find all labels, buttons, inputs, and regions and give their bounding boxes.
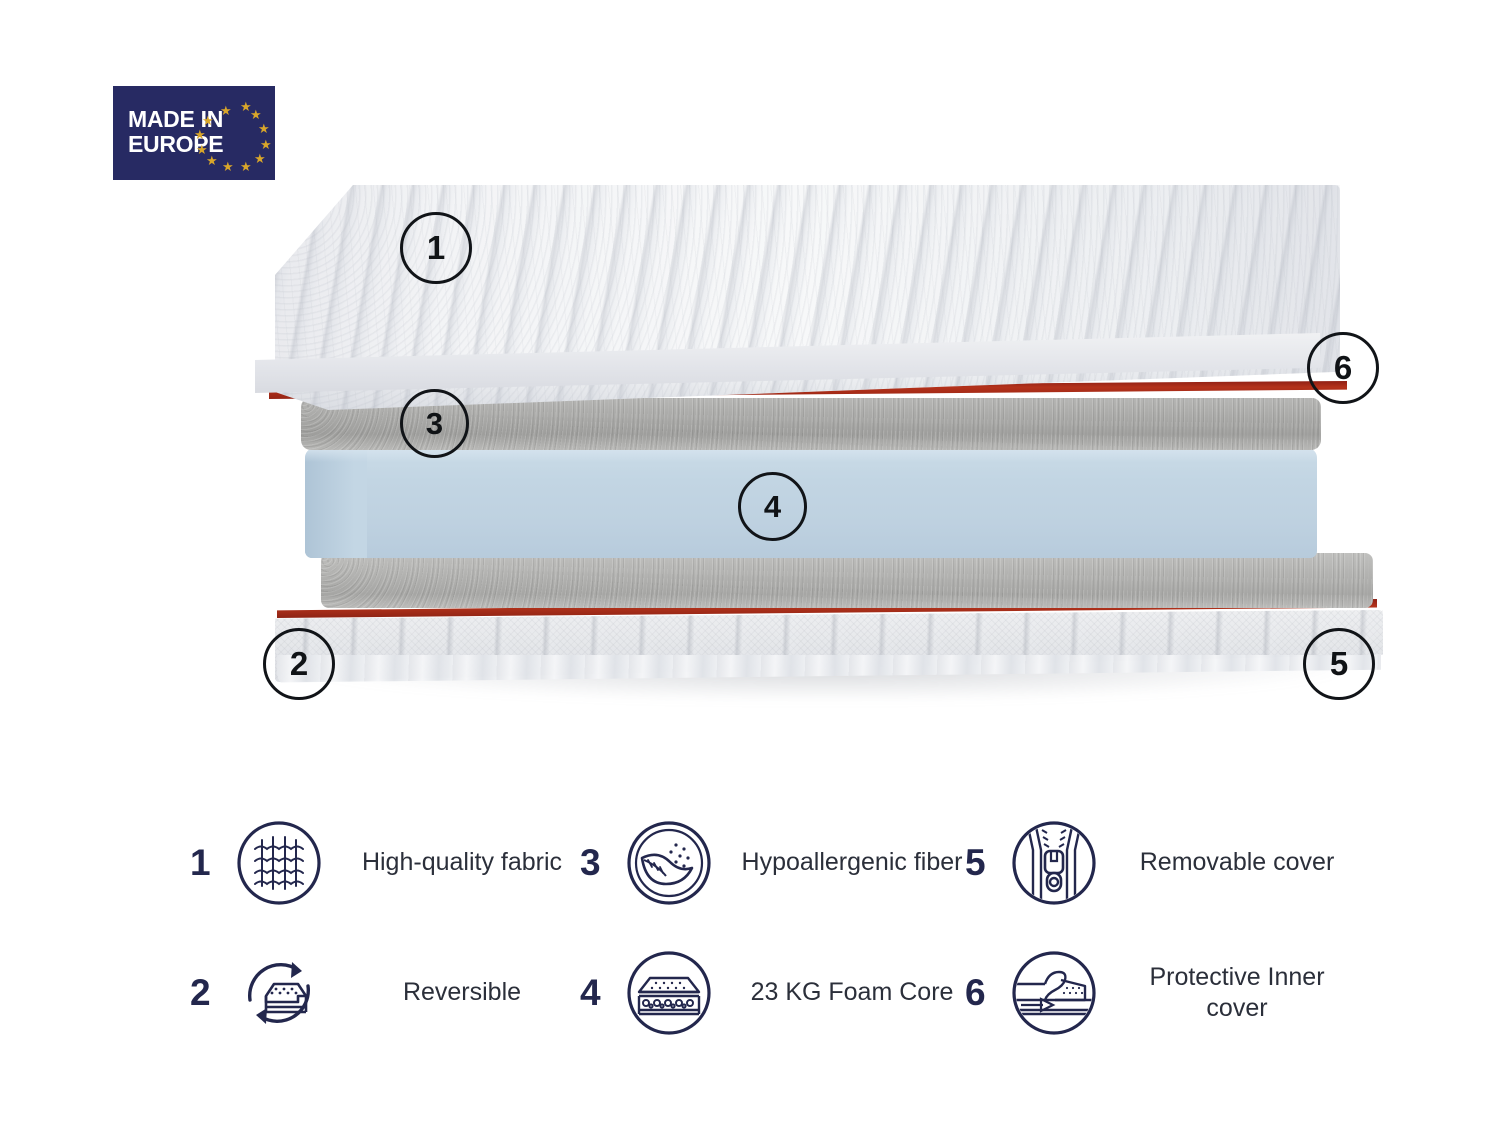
callout-marker-6[interactable]: 6 [1307, 332, 1379, 404]
foam-core-icon [626, 950, 712, 1036]
eu-star-icon: ★ [194, 129, 205, 140]
eu-star-icon: ★ [254, 153, 265, 164]
callout-marker-3[interactable]: 3 [400, 389, 469, 458]
legend-item-5[interactable]: 5 [965, 805, 1355, 920]
layer-foam-core [305, 448, 1317, 558]
woven-fabric-icon [236, 820, 322, 906]
callout-label: 1 [427, 229, 445, 267]
legend-number: 6 [965, 974, 1011, 1011]
eu-star-icon: ★ [260, 139, 271, 150]
eu-star-icon: ★ [240, 161, 251, 172]
callout-label: 2 [290, 645, 308, 683]
feature-legend: 1 High-quality fabric [190, 805, 1365, 1055]
foam-core-highlight [305, 448, 1317, 462]
eu-star-icon: ★ [258, 123, 269, 134]
layer-lower-fiber [321, 553, 1373, 608]
eu-star-icon: ★ [202, 115, 213, 126]
legend-column-3: 5 [965, 805, 1355, 1055]
eu-star-icon: ★ [220, 105, 231, 116]
legend-label: High-quality fabric [322, 847, 580, 878]
legend-label: Protective Inner cover [1097, 962, 1355, 1024]
made-in-europe-badge: MADE IN EUROPE ★ ★ ★ ★ ★ ★ ★ ★ ★ ★ ★ ★ [114, 87, 274, 179]
legend-item-1[interactable]: 1 High-quality fabric [190, 805, 580, 920]
legend-item-2[interactable]: 2 [190, 935, 580, 1050]
callout-marker-1[interactable]: 1 [400, 212, 472, 284]
legend-column-2: 3 [580, 805, 970, 1055]
callout-label: 4 [764, 489, 781, 525]
eu-star-icon: ★ [222, 161, 233, 172]
legend-column-1: 1 High-quality fabric [190, 805, 580, 1055]
callout-marker-4[interactable]: 4 [738, 472, 807, 541]
legend-number: 4 [580, 974, 626, 1011]
mattress-layer-diagram: 1 3 4 6 2 5 [255, 185, 1400, 730]
feather-dust-icon [626, 820, 712, 906]
legend-number: 2 [190, 974, 236, 1011]
callout-marker-2[interactable]: 2 [263, 628, 335, 700]
legend-number: 5 [965, 844, 1011, 881]
legend-label: Removable cover [1097, 847, 1355, 878]
callout-marker-5[interactable]: 5 [1303, 628, 1375, 700]
eu-star-icon: ★ [206, 155, 217, 166]
callout-label: 6 [1334, 349, 1352, 387]
callout-label: 3 [426, 406, 443, 442]
eu-star-icon: ★ [250, 109, 261, 120]
peel-cover-icon [1011, 950, 1097, 1036]
foam-core-left-face [305, 448, 367, 558]
legend-label: Hypoallergenic fiber [712, 847, 970, 878]
callout-label: 5 [1330, 645, 1348, 683]
legend-item-6[interactable]: 6 [965, 935, 1355, 1050]
legend-item-4[interactable]: 4 [580, 935, 970, 1050]
legend-label: Reversible [322, 977, 580, 1008]
reversible-rotation-icon [236, 950, 322, 1036]
legend-number: 1 [190, 844, 236, 881]
legend-label: 23 KG Foam Core [712, 977, 970, 1008]
legend-number: 3 [580, 844, 626, 881]
fiber-texture [321, 553, 1373, 608]
zipper-icon [1011, 820, 1097, 906]
legend-item-3[interactable]: 3 [580, 805, 970, 920]
